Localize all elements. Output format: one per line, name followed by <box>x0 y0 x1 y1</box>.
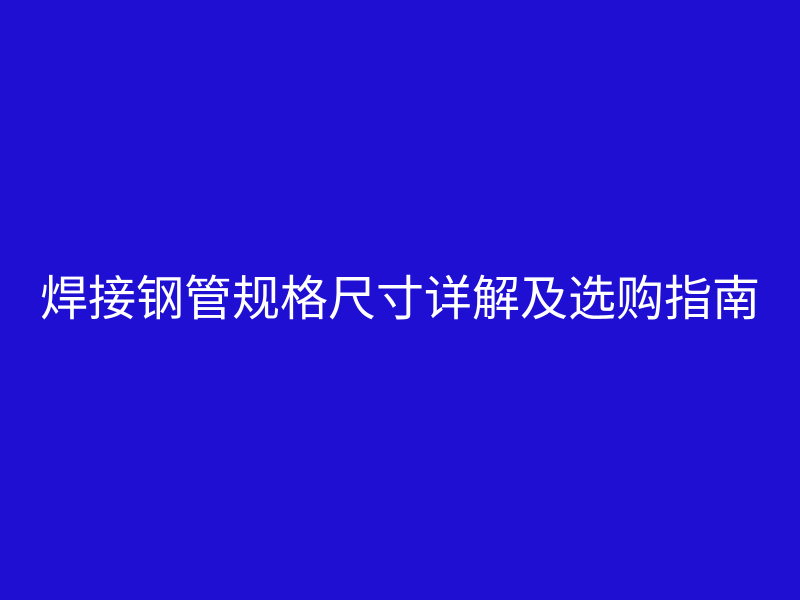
slide-canvas: 焊接钢管规格尺寸详解及选购指南 <box>0 0 800 600</box>
page-title: 焊接钢管规格尺寸详解及选购指南 <box>0 273 800 326</box>
